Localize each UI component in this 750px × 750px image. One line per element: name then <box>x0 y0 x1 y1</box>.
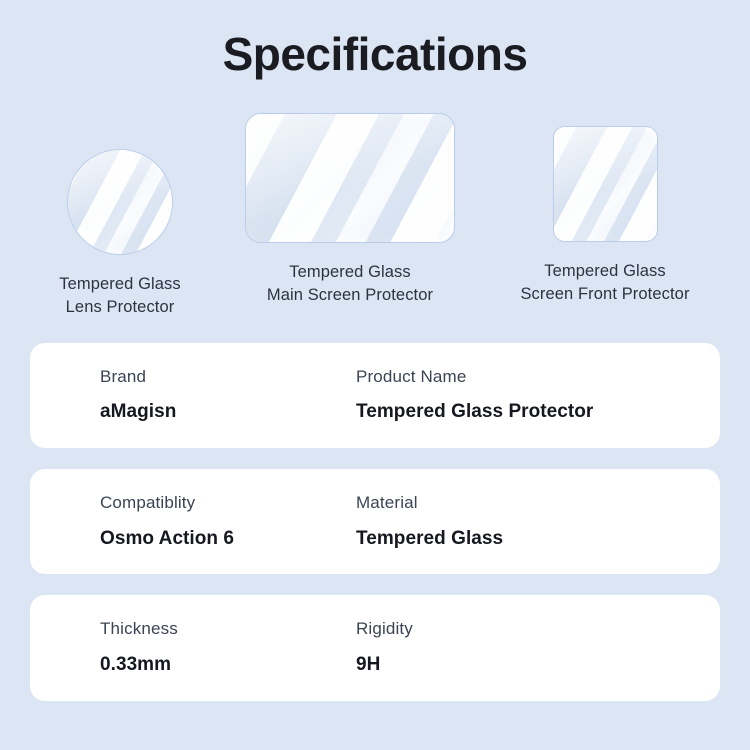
spec-cell: Compatiblity Osmo Action 6 <box>30 493 356 550</box>
spec-value: Tempered Glass <box>356 528 720 551</box>
spec-label: Rigidity <box>356 619 720 639</box>
spec-value: aMagisn <box>100 401 356 424</box>
product-item-screen-front-protector: Tempered Glass Screen Front Protector <box>500 126 710 307</box>
portrait-screen-glass-icon <box>553 126 658 242</box>
spec-cell: Product Name Tempered Glass Protector <box>356 367 720 424</box>
spec-value: Tempered Glass Protector <box>356 401 720 424</box>
wide-screen-glass-icon <box>245 113 455 243</box>
glass-reflection-streaks <box>67 149 173 255</box>
spec-label: Compatiblity <box>100 493 356 513</box>
product-caption: Tempered Glass Lens Protector <box>20 273 220 320</box>
specifications-page: Specifications Tempered Glass Lens Prote… <box>0 0 750 750</box>
spec-value: Osmo Action 6 <box>100 528 356 551</box>
spec-cell: Rigidity 9H <box>356 619 720 676</box>
spec-label: Thickness <box>100 619 356 639</box>
product-caption: Tempered Glass Screen Front Protector <box>500 260 710 307</box>
spec-value: 9H <box>356 654 720 677</box>
spec-label: Product Name <box>356 367 720 387</box>
spec-card-row: Brand aMagisn Product Name Tempered Glas… <box>30 343 720 448</box>
glass-reflection-streaks <box>553 126 658 242</box>
glass-gloss-overlay <box>554 127 657 241</box>
page-title: Specifications <box>0 28 750 81</box>
product-item-lens-protector: Tempered Glass Lens Protector <box>20 149 220 320</box>
spec-label: Material <box>356 493 720 513</box>
glass-gloss-overlay <box>68 150 172 254</box>
spec-card-list: Brand aMagisn Product Name Tempered Glas… <box>30 343 720 701</box>
product-gallery: Tempered Glass Lens Protector Tempered G… <box>0 105 750 320</box>
glass-reflection-streaks <box>245 113 455 243</box>
product-caption: Tempered Glass Main Screen Protector <box>245 261 455 308</box>
spec-cell: Material Tempered Glass <box>356 493 720 550</box>
spec-card-row: Compatiblity Osmo Action 6 Material Temp… <box>30 469 720 574</box>
spec-cell: Thickness 0.33mm <box>30 619 356 676</box>
spec-label: Brand <box>100 367 356 387</box>
spec-value: 0.33mm <box>100 654 356 677</box>
spec-cell: Brand aMagisn <box>30 367 356 424</box>
glass-gloss-overlay <box>246 114 454 242</box>
circular-lens-glass-icon <box>67 149 173 255</box>
spec-card-row: Thickness 0.33mm Rigidity 9H <box>30 595 720 700</box>
product-item-main-screen-protector: Tempered Glass Main Screen Protector <box>245 113 455 308</box>
